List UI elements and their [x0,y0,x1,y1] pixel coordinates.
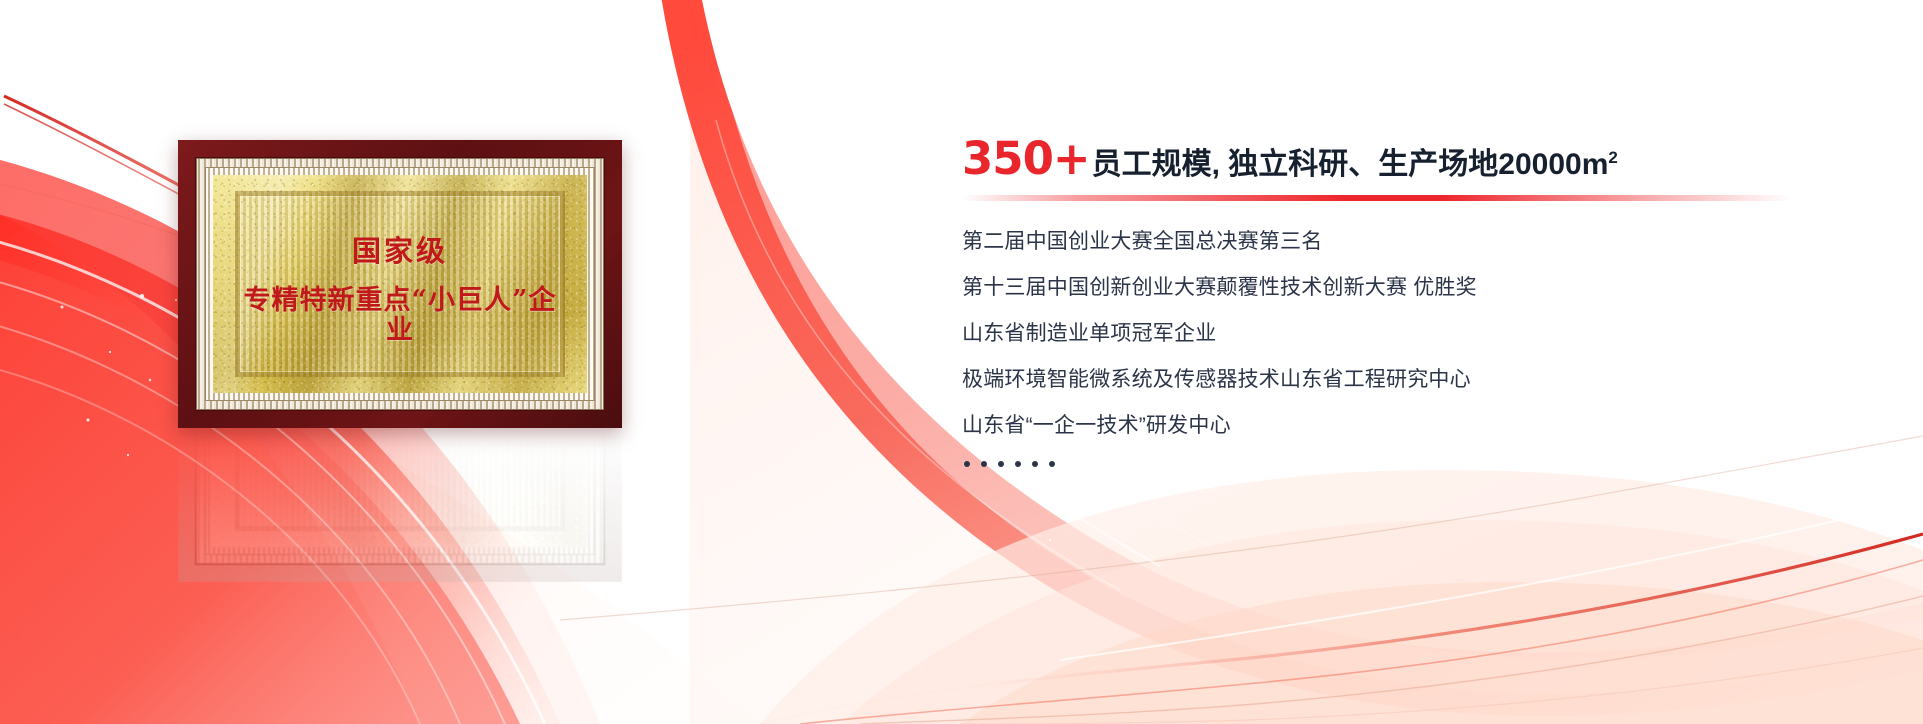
banner-stage: 国家级 专精特新重点“小巨人”企业 中华人民共和国工业和信息化部 2024年12… [0,0,1923,724]
more-items-ellipsis [962,461,1862,467]
headline-superscript: 2 [1608,149,1617,166]
list-item: 第二届中国创业大赛全国总决赛第三名 [962,231,1862,252]
plaque-ornate-border-outer: 国家级 专精特新重点“小巨人”企业 中华人民共和国工业和信息化部 2024年12… [196,158,604,410]
plaque-award-title: 专精特新重点“小巨人”企业 [240,286,560,345]
plaque-reflection [178,432,622,582]
plaque-text-field: 国家级 专精特新重点“小巨人”企业 中华人民共和国工业和信息化部 2024年12… [240,196,560,372]
award-plaque: 国家级 专精特新重点“小巨人”企业 中华人民共和国工业和信息化部 2024年12… [178,140,622,428]
honor-list: 第二届中国创业大赛全国总决赛第三名 第十三届中国创新创业大赛颠覆性技术创新大赛 … [962,231,1862,436]
headline: 350+ 员工规模, 独立科研、生产场地20000m 2 [962,136,1862,181]
ellipsis-dot [1032,461,1038,467]
list-item: 山东省“一企一技术”研发中心 [962,415,1862,436]
list-item: 极端环境智能微系统及传感器技术山东省工程研究中心 [962,369,1862,390]
list-item: 第十三届中国创新创业大赛颠覆性技术创新大赛 优胜奖 [962,277,1862,298]
headline-employee-count: 350+ [962,136,1090,181]
plaque-outer-frame: 国家级 专精特新重点“小巨人”企业 中华人民共和国工业和信息化部 2024年12… [178,140,622,428]
plaque-level-label: 国家级 [352,236,448,268]
ellipsis-dot [1015,461,1021,467]
headline-divider [962,195,1792,201]
honors-content: 350+ 员工规模, 独立科研、生产场地20000m 2 第二届中国创业大赛全国… [962,136,1862,467]
ellipsis-dot [964,461,970,467]
headline-description: 员工规模, 独立科研、生产场地20000m [1092,150,1609,180]
plaque-gold-plate: 国家级 专精特新重点“小巨人”企业 中华人民共和国工业和信息化部 2024年12… [213,175,587,393]
ellipsis-dot [1049,461,1055,467]
plaque-ornate-border-inner: 国家级 专精特新重点“小巨人”企业 中华人民共和国工业和信息化部 2024年12… [205,167,595,401]
ellipsis-dot [981,461,987,467]
ellipsis-dot [998,461,1004,467]
list-item: 山东省制造业单项冠军企业 [962,323,1862,344]
